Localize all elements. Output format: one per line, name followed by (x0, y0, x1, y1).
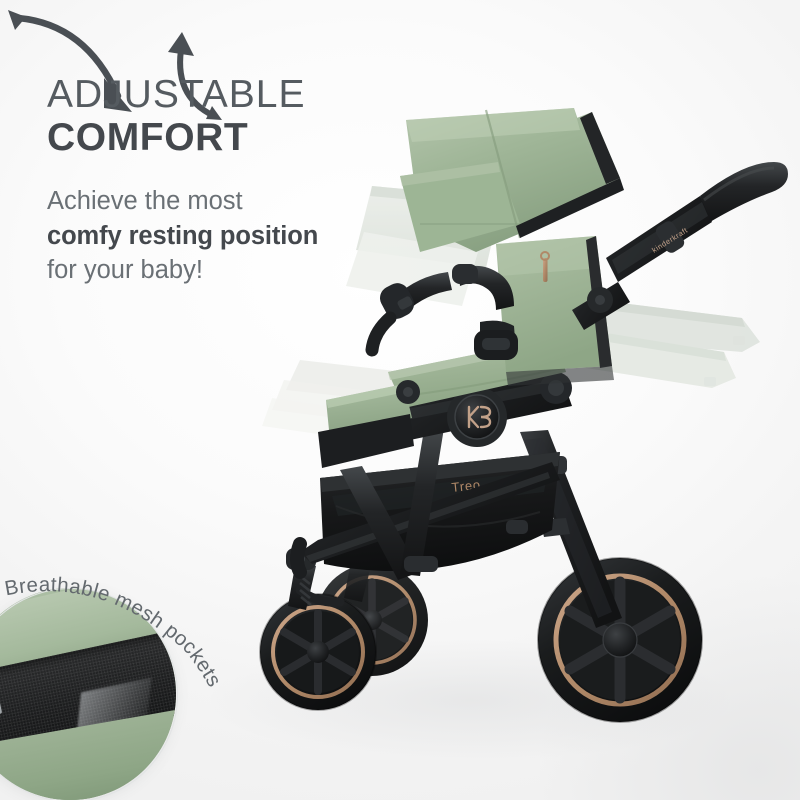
mesh-pocket-inset (0, 588, 176, 800)
product-banner: ADJUSTABLE COMFORT Achieve the most comf… (0, 0, 800, 800)
floor-shadow (210, 640, 730, 760)
corner-vignette (520, 560, 800, 800)
rear-leg (520, 430, 622, 628)
sub-line-1: Achieve the most (47, 184, 407, 218)
sub-copy: Achieve the most comfy resting position … (47, 184, 407, 287)
seat-backrest (496, 236, 614, 386)
handlebar-brand-logo: kinderkraft (650, 225, 689, 254)
ghost-recline-right (586, 300, 760, 388)
storage-basket: Treo (320, 452, 560, 571)
front-wheel-rear (316, 564, 428, 676)
lower-frame (297, 428, 560, 580)
headline-line-1: ADJUSTABLE (47, 74, 407, 115)
headline-line-2: COMFORT (47, 115, 407, 161)
kb-monogram-logo (469, 407, 490, 427)
sub-line-3: for your baby! (47, 253, 407, 287)
seat-frame (398, 372, 572, 447)
footrest (318, 380, 420, 468)
handlebar: kinderkraft (572, 162, 788, 330)
basket-wordmark: Treo (451, 477, 482, 495)
front-wheel (260, 594, 376, 710)
front-fork (286, 548, 372, 610)
canopy (400, 108, 624, 252)
canopy-zipper-pull (541, 252, 549, 282)
rear-wheel (538, 558, 702, 722)
sub-line-2: comfy resting position (47, 219, 407, 253)
bumper-bar (452, 264, 518, 360)
copy-block: ADJUSTABLE COMFORT Achieve the most comf… (47, 74, 407, 288)
seat-cushion (388, 338, 566, 408)
